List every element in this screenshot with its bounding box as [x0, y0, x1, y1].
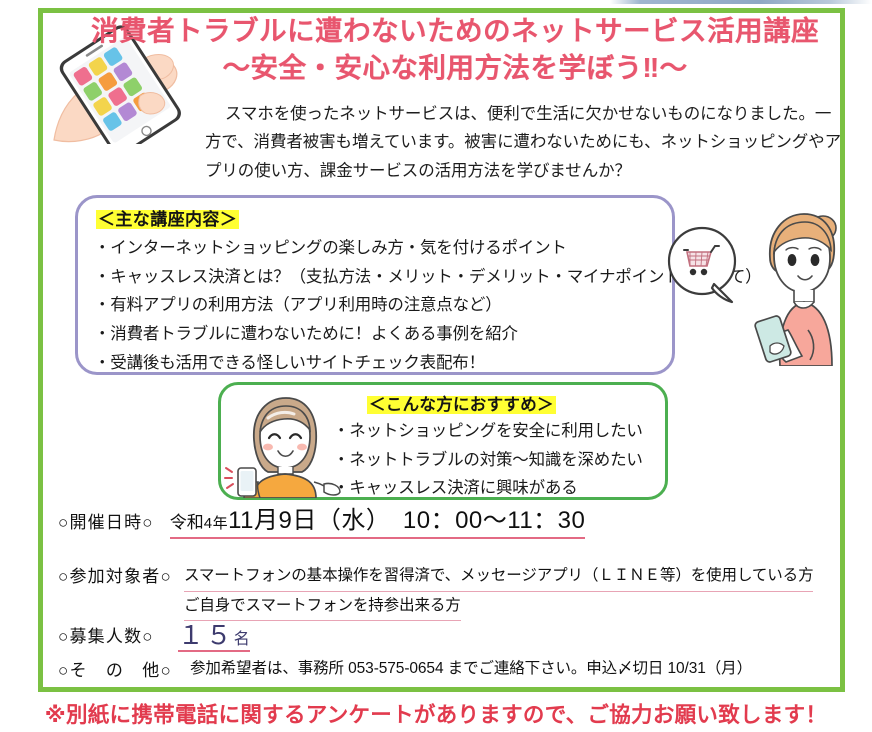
capacity-value: １５名: [178, 622, 250, 652]
title-line-2: 〜安全・安心な利用方法を学ぼう‼〜: [60, 50, 850, 86]
recommend-list: ・ネットショッピングを安全に利用したい ・ネットトラブルの対策〜知識を深めたい …: [333, 417, 643, 503]
list-item: ・ネットショッピングを安全に利用したい: [333, 417, 643, 446]
target-line-2: ご自身でスマートフォンを持参出来る方: [184, 592, 461, 622]
detail-row-date: ○開催日時○ 令和4年11月9日（水） 10：00〜11：30: [58, 508, 848, 539]
detail-row-target: ○参加対象者○ スマートフォンの基本操作を習得済で、メッセージアプリ（ＬＩＮＥ等…: [58, 562, 848, 621]
other-label: ○そ の 他○: [58, 656, 172, 681]
capacity-number: １５: [178, 620, 234, 650]
target-line-1: スマートフォンの基本操作を習得済で、メッセージアプリ（ＬＩＮＥ等）を使用している…: [184, 562, 814, 592]
capacity-label: ○募集人数○: [58, 622, 154, 647]
flyer-page: 消費者トラブルに遭わないためのネットサービス活用講座 〜安全・安心な利用方法を学…: [0, 0, 872, 732]
woman-orange-shirt-pointing-icon: [224, 388, 344, 498]
list-item: ・ネットトラブルの対策〜知識を深めたい: [333, 446, 643, 475]
course-content-heading-text: ＜主な講座内容＞: [96, 210, 239, 229]
date-label: ○開催日時○: [58, 508, 154, 533]
course-content-box: ＜主な講座内容＞ ・インターネットショッピングの楽しみ方・気を付けるポイント ・…: [75, 195, 675, 375]
date-era-number: 4: [204, 515, 213, 532]
scan-artifact-line: [0, 0, 872, 4]
list-item: ・キャッスレス決済とは？（支払方法・メリット・デメリット・マイナポイントについて…: [94, 263, 674, 292]
other-value: 参加希望者は、事務所 053-575-0654 までご連絡下さい。申込〆切日 1…: [190, 656, 752, 678]
list-item: ・有料アプリの利用方法（アプリ利用時の注意点など）: [94, 291, 674, 320]
shopping-cart-speech-bubble-icon: [662, 224, 746, 308]
detail-row-other: ○そ の 他○ 参加希望者は、事務所 053-575-0654 までご連絡下さい…: [58, 656, 848, 681]
flyer-title: 消費者トラブルに遭わないためのネットサービス活用講座 〜安全・安心な利用方法を学…: [60, 14, 850, 86]
woman-using-smartphone-icon: [748, 206, 850, 366]
date-era-suffix: 年: [213, 515, 229, 532]
intro-paragraph: スマホを使ったネットサービスは、便利で生活に欠かせないものになりました。一方で、…: [205, 100, 845, 185]
title-line-1: 消費者トラブルに遭わないためのネットサービス活用講座: [60, 14, 850, 48]
recommend-heading-text: ＜こんな方におすすめ＞: [367, 396, 556, 414]
recommend-heading: ＜こんな方におすすめ＞: [367, 391, 556, 415]
capacity-unit: 名: [234, 631, 250, 648]
list-item: ・キャッスレス決済に興味がある: [333, 474, 643, 503]
target-value: スマートフォンの基本操作を習得済で、メッセージアプリ（ＬＩＮＥ等）を使用している…: [184, 562, 814, 621]
date-value: 令和4年11月9日（水） 10：00〜11：30: [170, 508, 586, 539]
course-content-heading: ＜主な講座内容＞: [96, 205, 239, 230]
detail-row-capacity: ○募集人数○ １５名: [58, 622, 848, 652]
target-label: ○参加対象者○: [58, 562, 172, 587]
course-content-list: ・インターネットショッピングの楽しみ方・気を付けるポイント ・キャッスレス決済と…: [94, 234, 674, 378]
bottom-notice: ※別紙に携帯電話に関するアンケートがありますので、ご協力お願い致します！: [0, 698, 872, 729]
date-main-value: 11月9日（水） 10：00〜11：30: [228, 507, 585, 534]
date-era: 令和: [170, 513, 204, 532]
list-item: ・受講後も活用できる怪しいサイトチェック表配布！: [94, 349, 674, 378]
list-item: ・消費者トラブルに遭わないために！よくある事例を紹介: [94, 320, 674, 349]
list-item: ・インターネットショッピングの楽しみ方・気を付けるポイント: [94, 234, 674, 263]
